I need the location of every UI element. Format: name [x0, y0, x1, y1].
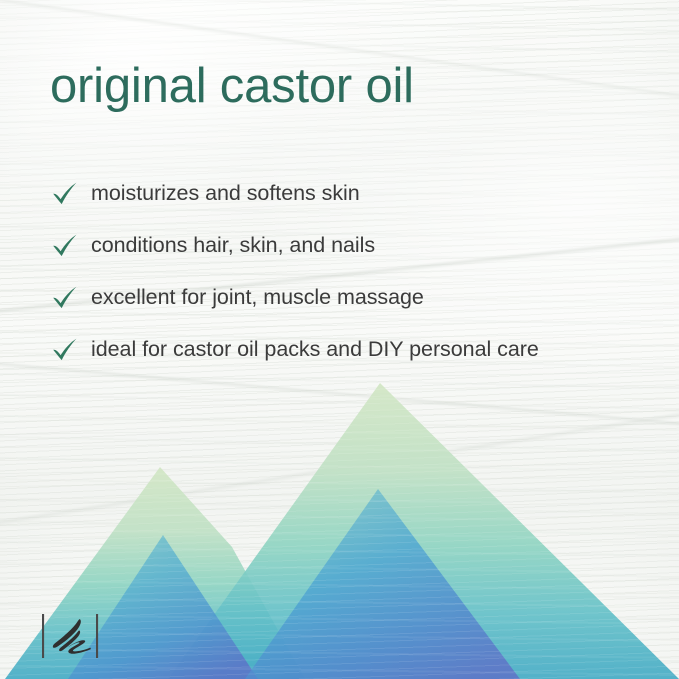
page-title: original castor oil: [50, 58, 414, 114]
brand-h-monogram-icon: [40, 605, 102, 667]
check-icon: [50, 233, 80, 259]
check-icon: [50, 181, 80, 207]
list-item-label: conditions hair, skin, and nails: [91, 235, 375, 257]
list-item: excellent for joint, muscle massage: [50, 272, 660, 324]
list-item-label: moisturizes and softens skin: [91, 183, 360, 205]
list-item-label: excellent for joint, muscle massage: [91, 287, 424, 309]
benefits-list: moisturizes and softens skin conditions …: [50, 168, 660, 376]
check-icon: [50, 285, 80, 311]
list-item: moisturizes and softens skin: [50, 168, 660, 220]
brand-logo: [40, 605, 102, 667]
product-infographic-card: original castor oil moisturizes and soft…: [0, 0, 679, 679]
list-item: ideal for castor oil packs and DIY perso…: [50, 324, 660, 376]
check-icon: [50, 337, 80, 363]
list-item-label: ideal for castor oil packs and DIY perso…: [91, 339, 539, 361]
list-item: conditions hair, skin, and nails: [50, 220, 660, 272]
